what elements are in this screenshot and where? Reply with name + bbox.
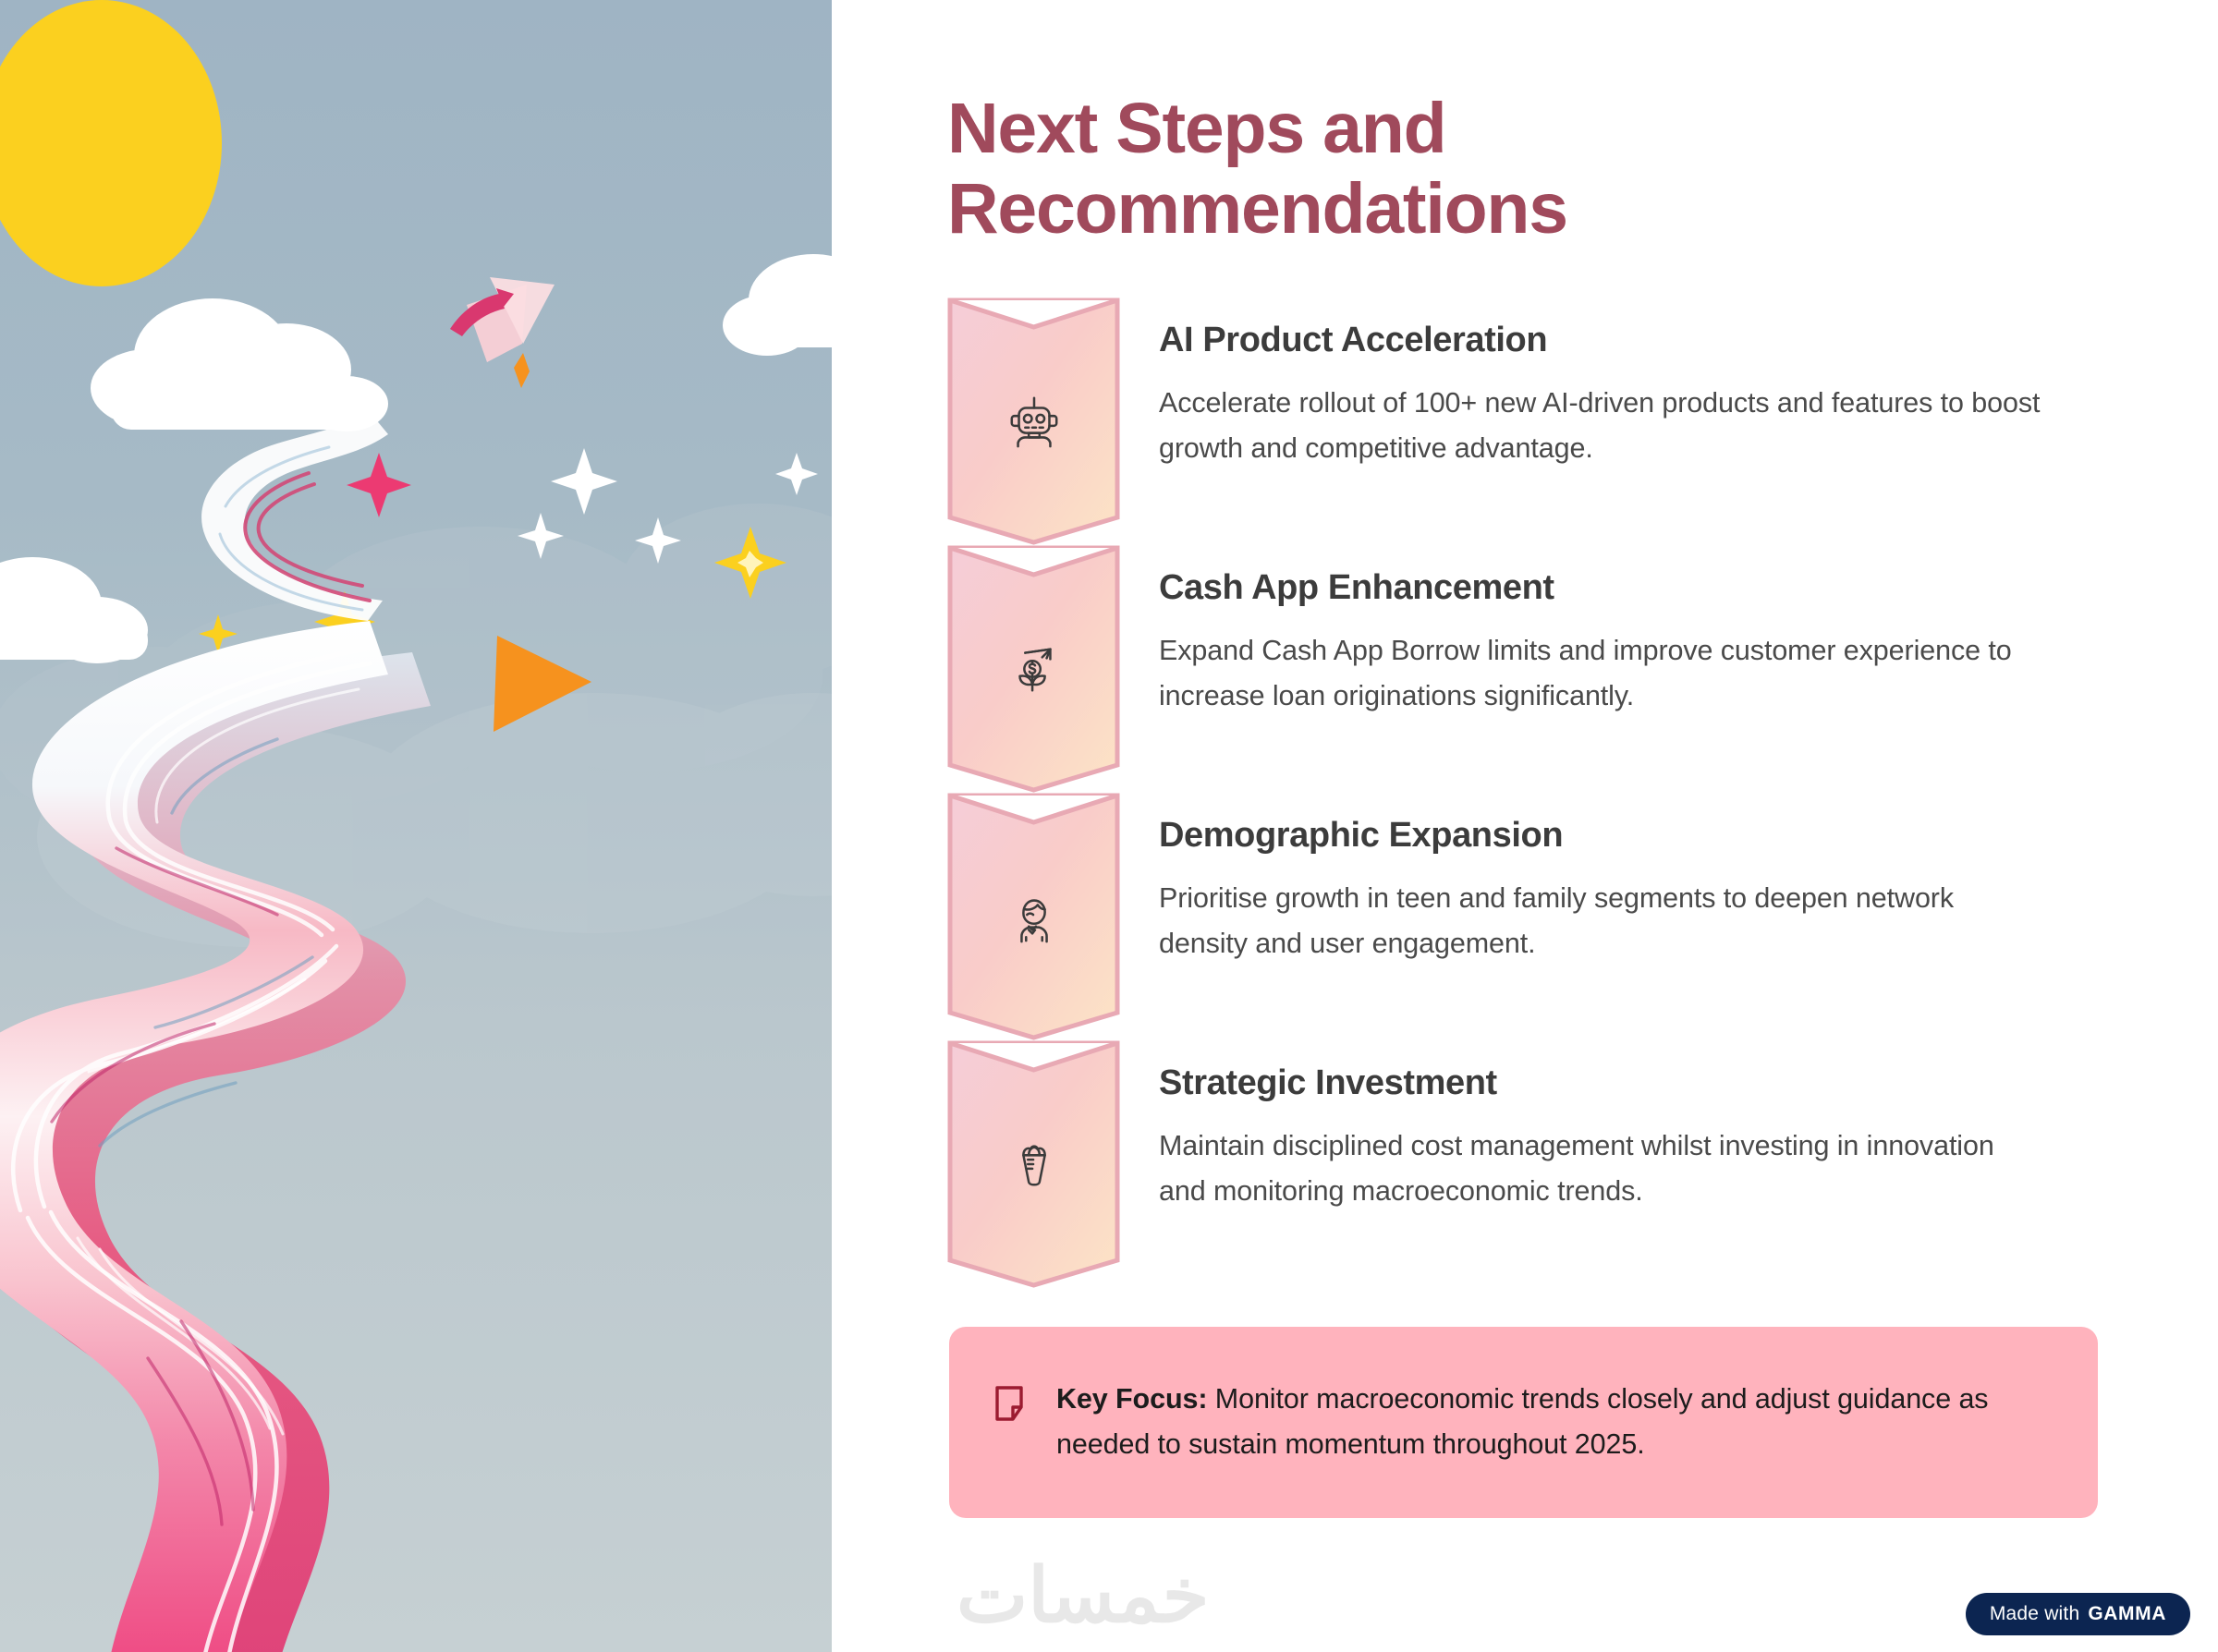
badge-brand: GAMMA <box>2088 1603 2166 1625</box>
tulip-icon <box>1005 1136 1063 1193</box>
banner-strategic-investment <box>947 1040 1120 1288</box>
sticky-note-icon <box>993 1385 1025 1422</box>
recommendation-text: Cash App Enhancement Expand Cash App Bor… <box>1120 545 2098 793</box>
money-growth-icon <box>1005 640 1063 698</box>
recommendation-title: Demographic Expansion <box>1159 817 2098 856</box>
recommendation-description: Accelerate rollout of 100+ new AI-driven… <box>1159 381 2046 472</box>
page-title: Next Steps and Recommendations <box>947 89 1779 249</box>
recommendation-description: Expand Cash App Borrow limits and improv… <box>1159 628 2046 720</box>
person-icon <box>1005 888 1063 945</box>
recommendation-text: Strategic Investment Maintain discipline… <box>1120 1040 2098 1288</box>
banner-demographic-expansion <box>947 793 1120 1040</box>
key-focus-lead: Key Focus: <box>1056 1383 1207 1415</box>
recommendation-text: Demographic Expansion Prioritise growth … <box>1120 793 2098 1040</box>
illustration-panel <box>0 0 832 1652</box>
made-with-gamma-badge[interactable]: Made with GAMMA <box>1966 1593 2190 1635</box>
banner-cash-app-enhancement <box>947 545 1120 793</box>
recommendation-description: Maintain disciplined cost management whi… <box>1159 1124 2046 1215</box>
banner-ai-product-acceleration <box>947 298 1120 545</box>
key-focus-callout: Key Focus: Monitor macroeconomic trends … <box>949 1327 2098 1518</box>
robot-icon <box>1005 393 1063 450</box>
recommendation-list: AI Product Acceleration Accelerate rollo… <box>947 298 2098 1288</box>
recommendation-row[interactable]: Cash App Enhancement Expand Cash App Bor… <box>947 545 2098 793</box>
key-focus-text: Key Focus: Monitor macroeconomic trends … <box>1056 1377 2046 1468</box>
recommendation-title: AI Product Acceleration <box>1159 322 2098 360</box>
content-panel: Next Steps and Recommendations <box>832 0 2218 1652</box>
recommendation-text: AI Product Acceleration Accelerate rollo… <box>1120 298 2098 545</box>
watermark: خمسات <box>957 1552 1209 1640</box>
recommendation-row[interactable]: Demographic Expansion Prioritise growth … <box>947 793 2098 1040</box>
badge-prefix: Made with <box>1990 1603 2080 1625</box>
recommendation-row[interactable]: AI Product Acceleration Accelerate rollo… <box>947 298 2098 545</box>
recommendation-row[interactable]: Strategic Investment Maintain discipline… <box>947 1040 2098 1288</box>
slide-root: Next Steps and Recommendations <box>0 0 2218 1652</box>
recommendation-title: Strategic Investment <box>1159 1064 2098 1103</box>
winding-road-illustration <box>0 0 832 1652</box>
recommendation-title: Cash App Enhancement <box>1159 569 2098 608</box>
recommendation-description: Prioritise growth in teen and family seg… <box>1159 876 2046 967</box>
